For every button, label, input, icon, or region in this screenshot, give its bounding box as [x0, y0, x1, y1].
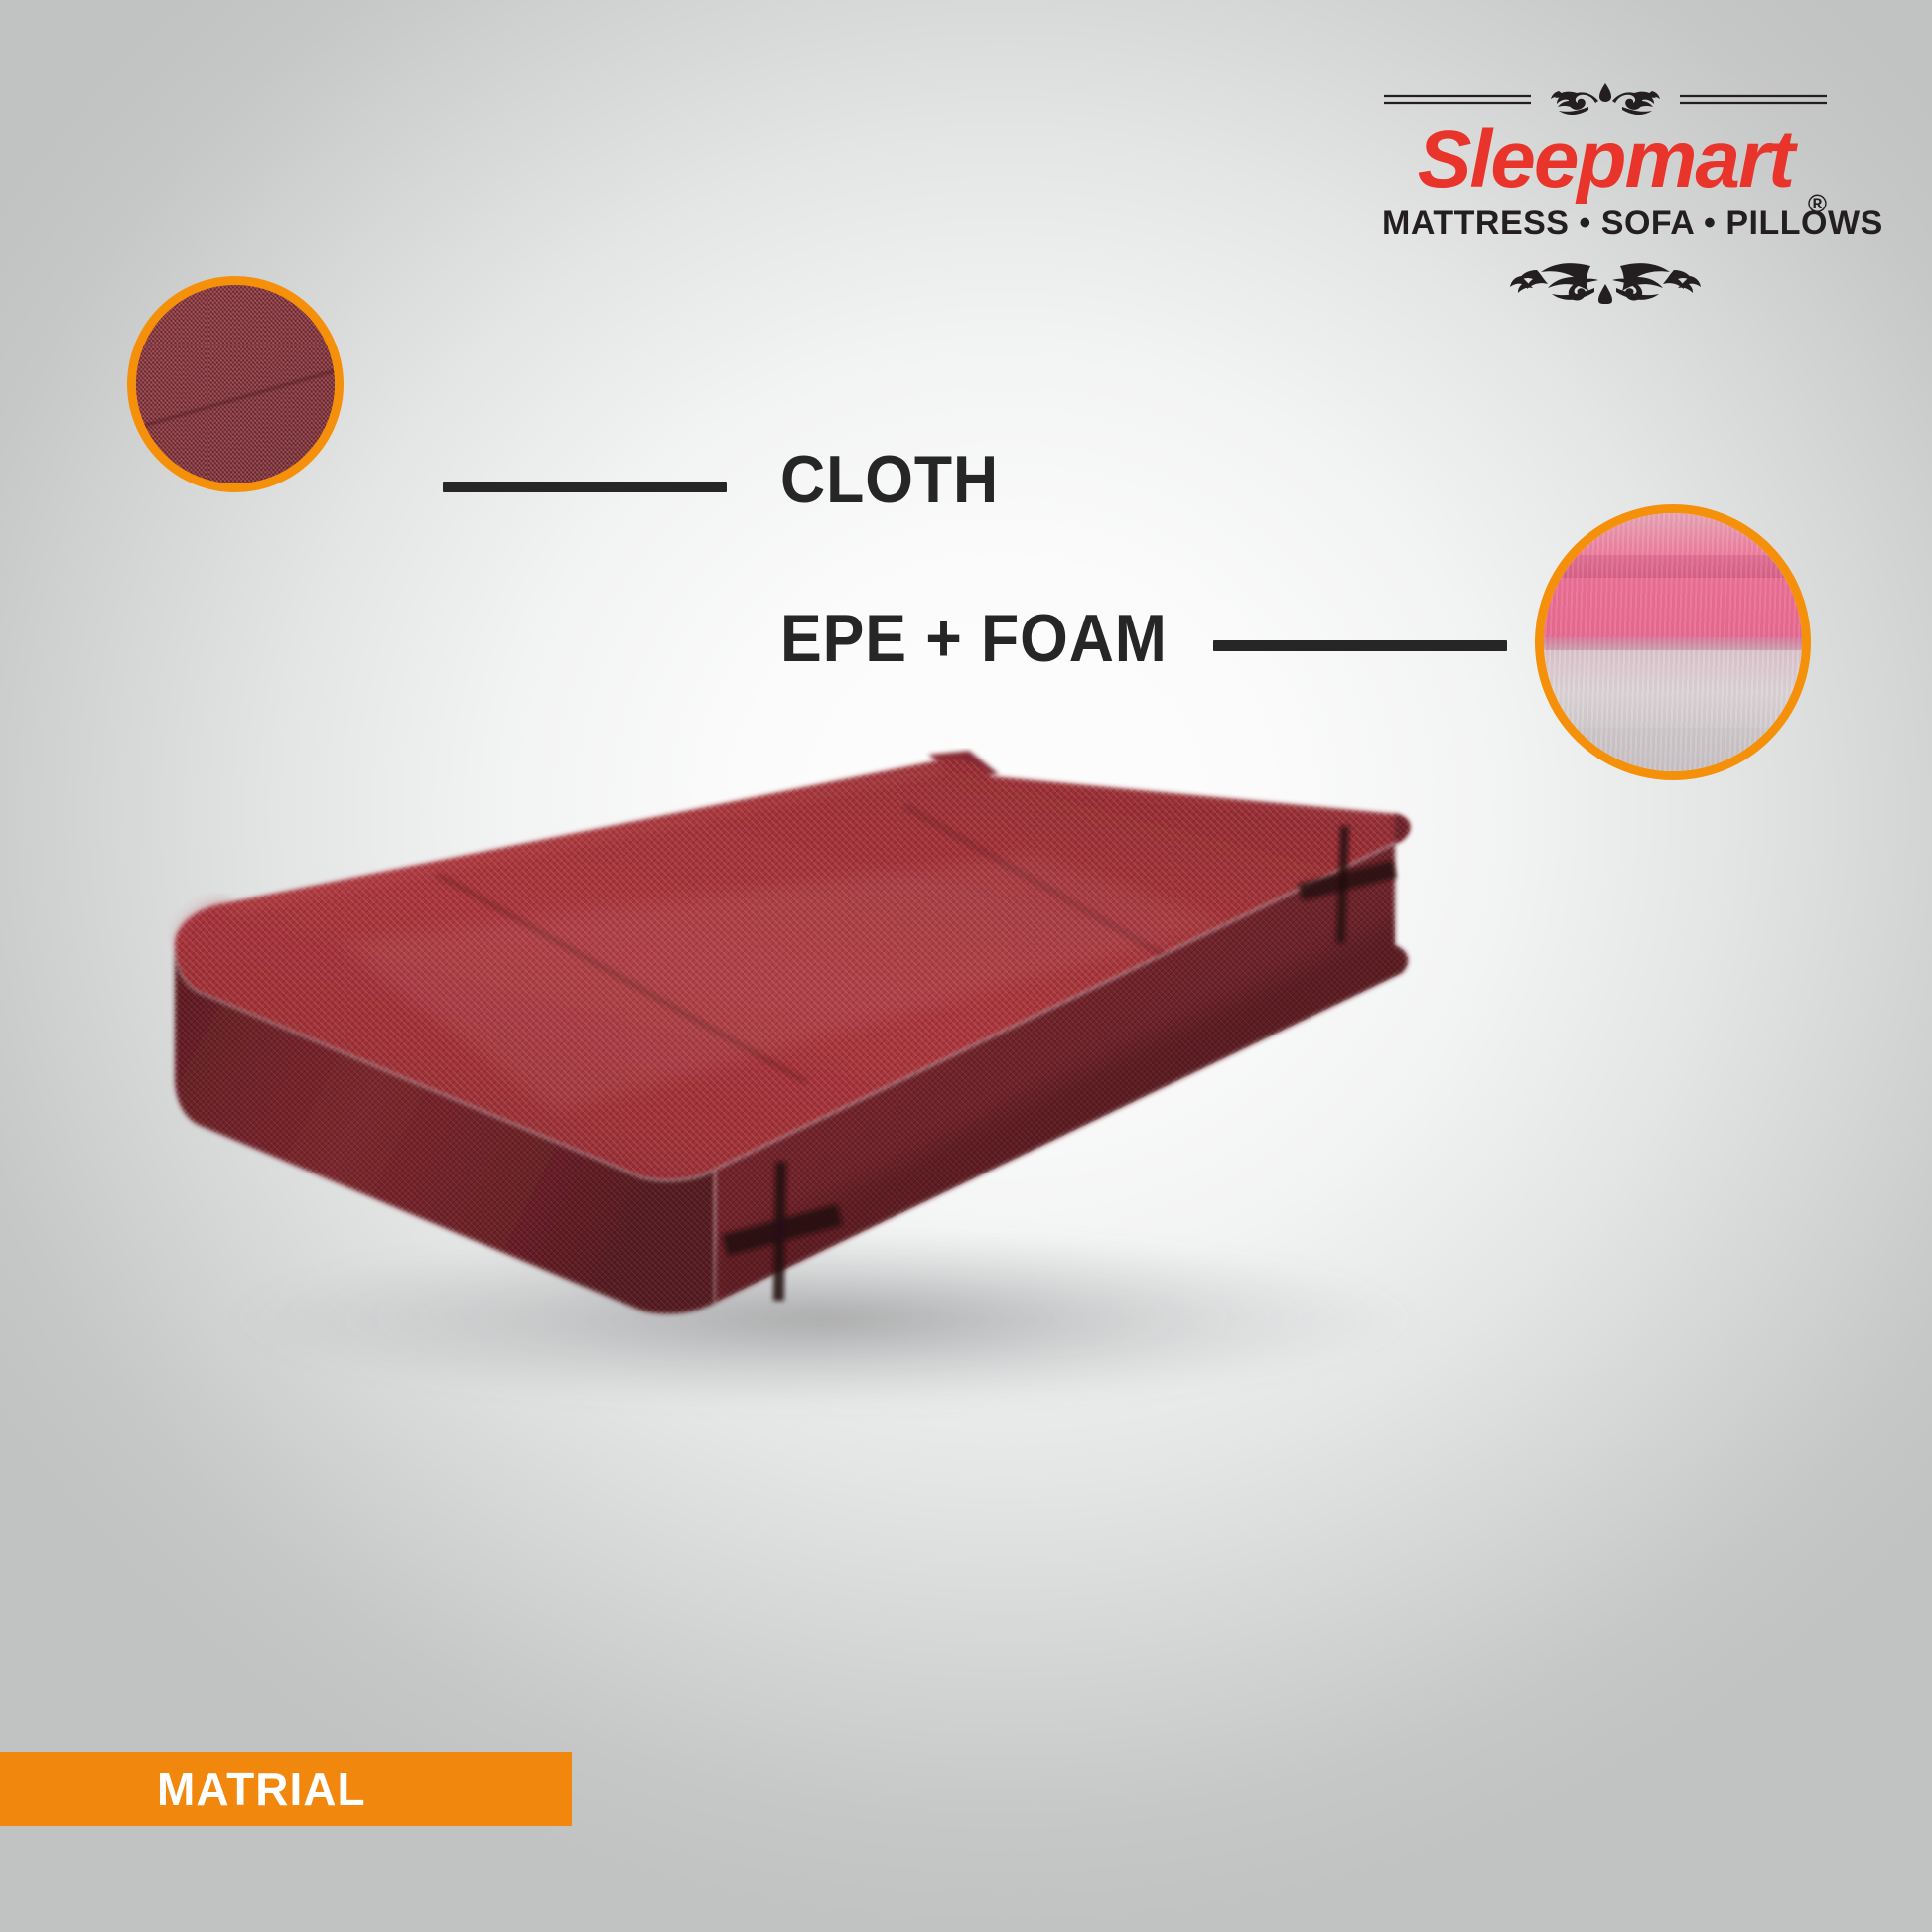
- material-banner: MATRIAL: [0, 1752, 572, 1826]
- woven-fabric-texture: [127, 276, 344, 492]
- foam-leader-line: [1213, 640, 1507, 651]
- brand-tagline: MATTRESS • SOFA • PILLOWS: [1382, 205, 1829, 243]
- cloth-label: CLOTH: [780, 441, 999, 518]
- mattress-illustration: [139, 695, 1529, 1588]
- epe-foam-label: EPE + FOAM: [780, 600, 1168, 677]
- mattress-product-image: [139, 695, 1529, 1588]
- material-banner-label: MATRIAL: [157, 1762, 366, 1816]
- brand-logo: Sleepmart® MATTRESS • SOFA • PILLOWS: [1382, 77, 1829, 304]
- foam-swatch-circle: [1535, 504, 1811, 780]
- cloth-leader-line: [443, 482, 727, 492]
- foam-layer-stack: [1544, 513, 1802, 771]
- logo-bottom-ornament-icon: [1404, 254, 1807, 304]
- cloth-swatch-circle: [127, 276, 344, 492]
- brand-name: Sleepmart®: [1382, 117, 1829, 203]
- product-infographic-canvas: Sleepmart® MATTRESS • SOFA • PILLOWS C: [0, 0, 1932, 1932]
